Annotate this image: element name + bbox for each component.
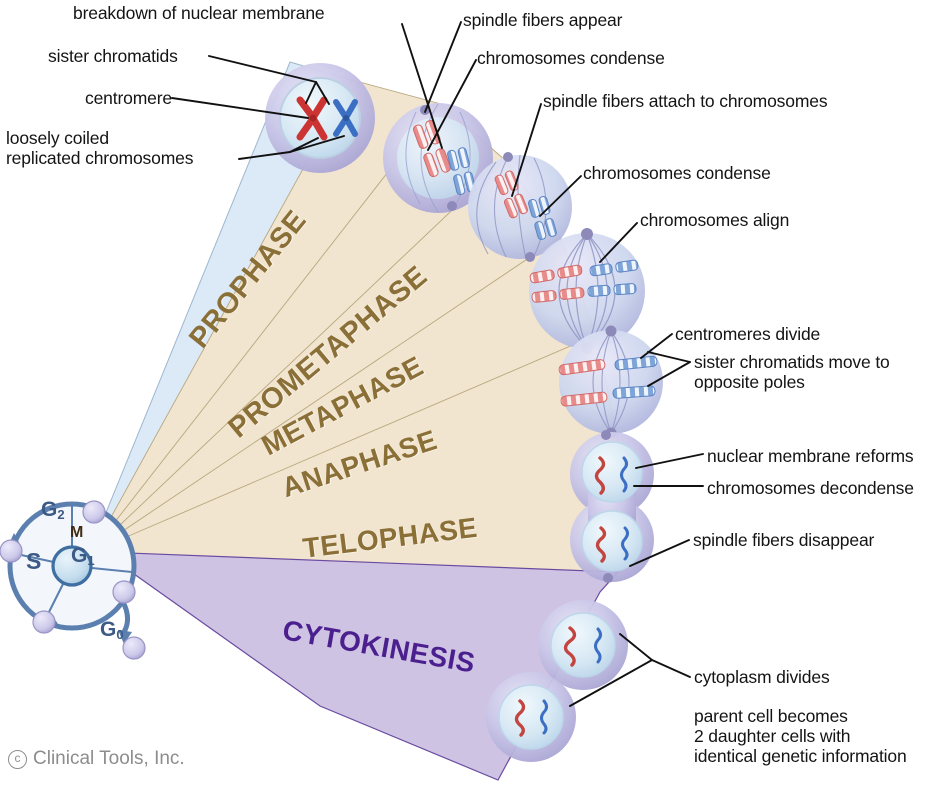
cycle-label-m: M	[70, 524, 83, 542]
cycle-label-g2: G2	[41, 498, 65, 522]
label-nuclear-membrane-reforms: nuclear membrane reforms	[707, 446, 913, 467]
cycle-label-g1: G1	[71, 544, 95, 568]
label-chromosomes-condense-1: chromosomes condense	[477, 48, 665, 69]
label-breakdown-nuclear-membrane: breakdown of nuclear membrane	[73, 3, 325, 24]
cell-daughter-top	[538, 600, 628, 690]
label-centromeres-divide: centromeres divide	[675, 324, 820, 345]
label-sister-chromatids-move: sister chromatids move to opposite poles	[694, 352, 890, 392]
copyright-icon: c	[8, 750, 27, 769]
label-centromere: centromere	[85, 88, 172, 109]
label-chromosomes-decondense: chromosomes decondense	[707, 478, 914, 499]
label-spindle-fibers-appear: spindle fibers appear	[463, 10, 622, 31]
cell-cycle-diagram: breakdown of nuclear membrane spindle fi…	[0, 0, 936, 786]
copyright-credit: c Clinical Tools, Inc.	[8, 748, 185, 770]
label-spindle-fibers-attach: spindle fibers attach to chromosomes	[543, 91, 827, 112]
label-parent-cell-becomes: parent cell becomes 2 daughter cells wit…	[694, 706, 907, 766]
label-spindle-fibers-disappear: spindle fibers disappear	[693, 530, 874, 551]
label-loosely-coiled-chromosomes: loosely coiled replicated chromosomes	[6, 128, 193, 168]
cycle-label-g0: G0	[100, 618, 124, 642]
label-cytoplasm-divides: cytoplasm divides	[694, 667, 830, 688]
copyright-text: Clinical Tools, Inc.	[33, 748, 185, 770]
label-sister-chromatids: sister chromatids	[48, 46, 178, 67]
cell-daughter-bottom	[486, 672, 576, 762]
cell-g2-interphase	[265, 63, 375, 173]
label-chromosomes-align: chromosomes align	[640, 210, 789, 231]
label-chromosomes-condense-2: chromosomes condense	[583, 163, 771, 184]
cycle-label-s: S	[26, 548, 41, 575]
